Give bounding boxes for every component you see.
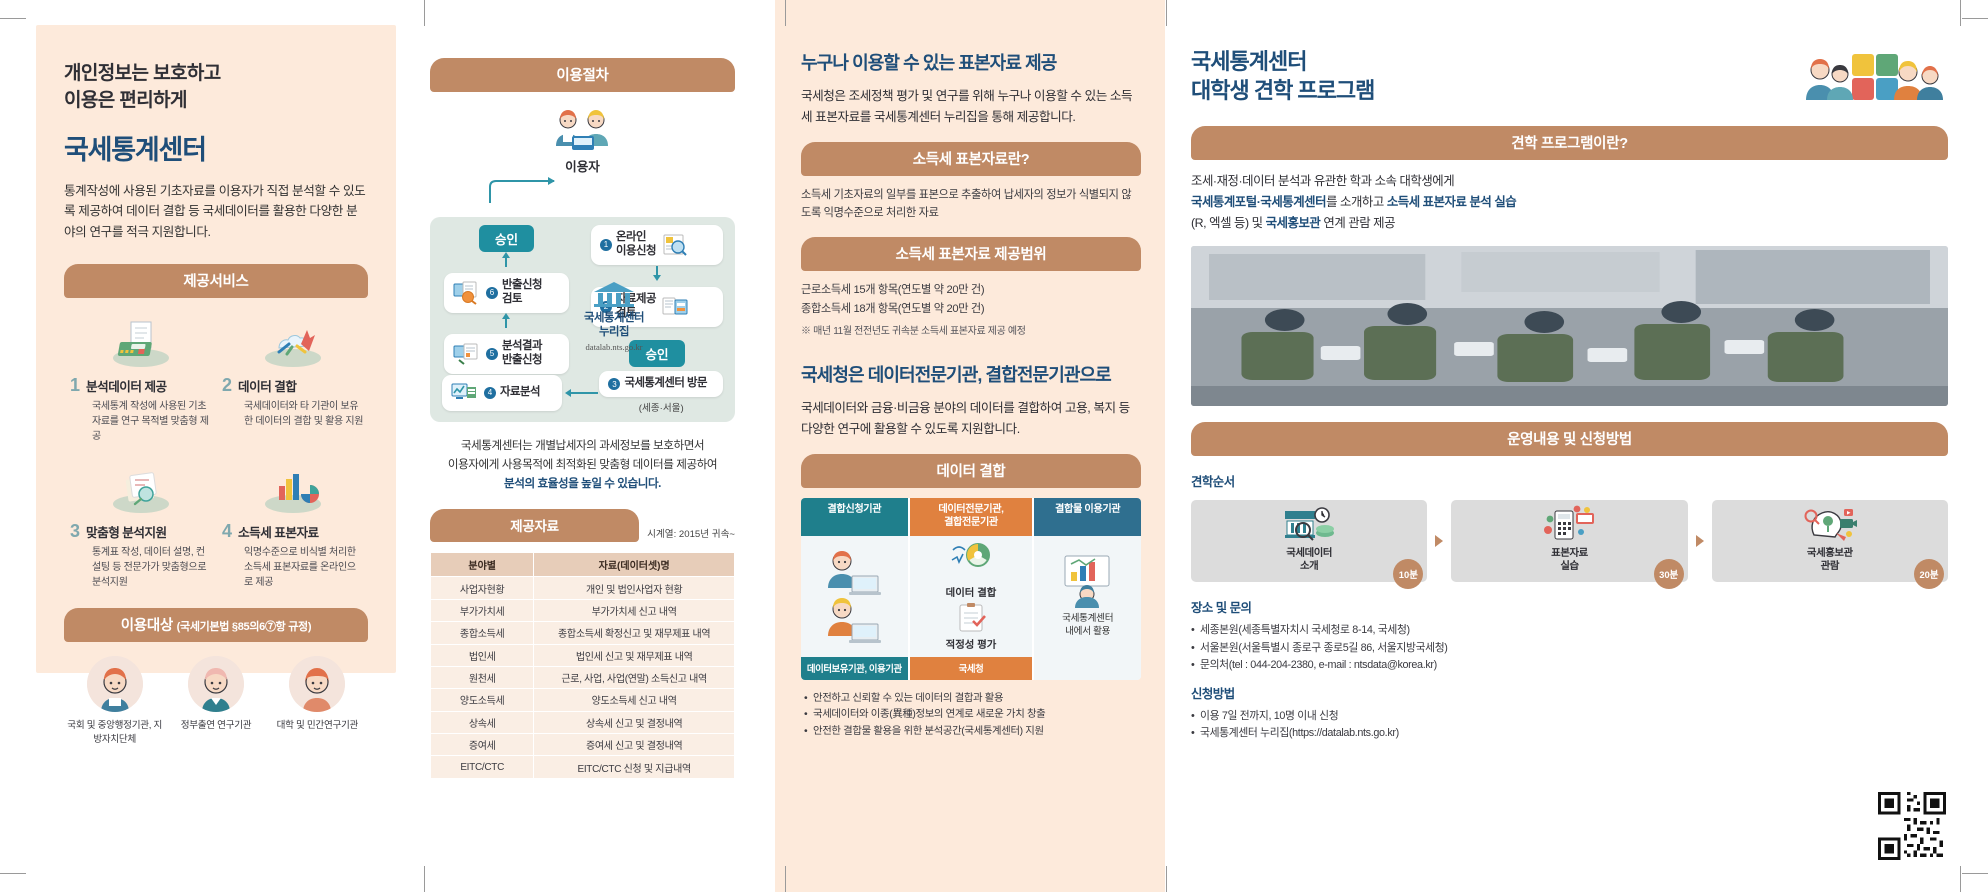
merge-footer-2: 국세청 (910, 657, 1033, 680)
cell-field: 법인세 (431, 644, 534, 666)
flow-inner-panel: 승인 6 반출신청 검토 5 (430, 217, 735, 422)
sample-scope-text: 근로소득세 15개 항목(연도별 약 20만 건) 종합소득세 18개 항목(연… (801, 281, 1141, 339)
crop-mark (0, 873, 26, 874)
merge-bar: 데이터 결합 (801, 454, 1141, 488)
user-target: 대학 및 민간연구기관 (267, 656, 368, 747)
process-note-line-3: 분석의 효율성을 높일 수 있습니다. (504, 477, 661, 490)
flow-arrow-down-1 (591, 265, 723, 282)
panel-overview: 개인정보는 보호하고 이용은 편리하게 국세통계센터 통계작성에 사용된 기초자… (0, 0, 420, 892)
person-avatar-2 (188, 656, 244, 712)
hub-url: datalab.nts.go.kr (578, 342, 650, 352)
program-operation-bar: 운영내용 및 신청방법 (1191, 422, 1948, 456)
sample-scope-bar: 소득세 표본자료 제공범위 (801, 237, 1141, 271)
students-puzzle-icon (1798, 48, 1948, 110)
cell-dataset: 부가가치세 신고 내역 (534, 599, 735, 621)
flow-step-3: 3 국세통계센터 방문 (599, 371, 723, 397)
headline-line-1: 개인정보는 보호하고 (64, 63, 221, 84)
flow-arrow-left (562, 387, 600, 399)
bar-pie-chart-icon (222, 456, 364, 516)
merge-right-label: 국세통계센터 내에서 활용 (1062, 613, 1113, 639)
service-number: 4 (222, 522, 232, 540)
person-avatar-3 (289, 656, 345, 712)
merge-diagram-headers: 결합신청기관 데이터전문기관, 결합전문기관 결합물 이용기관 (801, 498, 1141, 536)
table-col-field: 분야별 (431, 553, 534, 577)
flow-step-6-label: 반출신청 검토 (502, 279, 542, 307)
table-row: 사업자현황개인 및 법인사업자 현황 (431, 577, 735, 599)
data-table-meta: 시계열: 2015년 귀속~ (647, 526, 735, 542)
scope-note: ※ 매년 11월 전전년도 귀속분 소득세 표본자료 제공 예정 (801, 324, 1141, 340)
flow-user-caption: 이용자 (430, 156, 735, 175)
cell-field: 증여세 (431, 734, 534, 756)
apply-list: 이용 7일 전까지, 10명 이내 신청 국세통계센터 누리집(https://… (1191, 708, 1948, 743)
step-badge-3: 3 (608, 378, 620, 390)
merge-diagram-footers: 데이터보유기관, 이용기관 국세청 (801, 657, 1141, 680)
crop-mark (424, 866, 425, 892)
crop-mark (785, 0, 786, 26)
crop-mark (424, 0, 425, 26)
crop-mark (1960, 866, 1961, 892)
user-target-label: 국회 및 중앙행정기관, 지방자치단체 (64, 719, 165, 747)
center-building-icon (591, 281, 637, 307)
chevron-right-icon (1696, 535, 1704, 547)
program-intro-bold-2: 소득세 표본자료 분석 실습 (1387, 195, 1516, 209)
flow-step-4-label: 자료분석 (500, 386, 540, 400)
two-people-icon (430, 106, 735, 152)
flow-step-5: 5 분석결과 반출신청 (444, 334, 569, 374)
cell-field: 상속세 (431, 711, 534, 733)
service-title: 분석데이터 제공 (86, 376, 167, 395)
cell-dataset: 법인세 신고 및 재무제표 내역 (534, 644, 735, 666)
users-bar-title: 이용대상 (121, 618, 173, 634)
merge-cell-users: 국세통계센터 내에서 활용 (1034, 536, 1141, 657)
calculator-document-icon (70, 310, 212, 370)
cell-field: 부가가치세 (431, 599, 534, 621)
visit-step-3-minutes: 20분 (1914, 559, 1944, 589)
program-what-bar: 견학 프로그램이란? (1191, 126, 1948, 160)
merge-gear-icon (948, 542, 994, 580)
panel1-headline: 개인정보는 보호하고 이용은 편리하게 (64, 61, 368, 115)
service-desc: 국세통계 작성에 사용된 기초자료를 연구 목적별 맞춤형 제공 (92, 399, 212, 444)
person-avatar-1 (87, 656, 143, 712)
table-col-dataset: 자료(데이터셋)명 (534, 553, 735, 577)
cell-dataset: 양도소득세 신고 내역 (534, 689, 735, 711)
clipboard-magnifier-icon (70, 456, 212, 516)
program-intro-line-1: 조세·재정·데이터 분석과 유관한 학과 소속 대학생에게 (1191, 174, 1454, 188)
cell-field: 양도소득세 (431, 689, 534, 711)
data-table-header-row: 제공자료 시계열: 2015년 귀속~ (430, 509, 735, 542)
flow-arrow-up-left (430, 175, 735, 205)
export-review-icon (453, 281, 480, 305)
cell-dataset: 종합소득세 확정신고 및 재무제표 내역 (534, 622, 735, 644)
program-intro-mid-2: (R, 엑셀 등) 및 (1191, 216, 1266, 230)
cell-dataset: 증여세 신고 및 결정내역 (534, 734, 735, 756)
apply-item: 이용 7일 전까지, 10명 이내 신청 (1191, 708, 1948, 725)
visit-step-1-minutes: 10분 (1393, 559, 1423, 589)
qr-code[interactable] (1874, 788, 1948, 862)
sample-title: 누구나 이용할 수 있는 표본자료 제공 (801, 52, 1141, 75)
evaluation-checklist-icon (948, 603, 994, 633)
merge-col-1-header: 결합신청기관 (801, 498, 908, 536)
cell-field: 원천세 (431, 666, 534, 688)
table-row: 부가가치세부가가치세 신고 내역 (431, 599, 735, 621)
visit-step-2-minutes: 30분 (1654, 559, 1684, 589)
apply-label: 신청방법 (1191, 684, 1948, 702)
service-item: 2 데이터 결합 국세데이터와 타 기관이 보유한 데이터의 결합 및 활용 지… (216, 310, 368, 456)
process-note: 국세통계센터는 개별납세자의 과세정보를 보호하면서 이용자에게 사용목적에 최… (430, 436, 735, 493)
merge-bullet: 국세데이터와 이종(異種)정보의 연계로 새로운 가치 창출 (804, 707, 1141, 724)
flow-user-node: 이용자 (430, 106, 735, 175)
calculator-practice-icon (1541, 505, 1597, 543)
place-item: 세종본원(세종특별자치시 국세청로 8-14, 국세청) (1191, 622, 1948, 639)
flow-approve-top: 승인 (479, 225, 534, 252)
table-header-row: 분야별 자료(데이터셋)명 (431, 553, 735, 577)
cell-field: 사업자현황 (431, 577, 534, 599)
cell-dataset: 상속세 신고 및 결정내역 (534, 711, 735, 733)
crop-mark (1166, 866, 1167, 892)
crop-mark (1960, 0, 1961, 26)
flow-arrow-up-2 (444, 313, 569, 329)
flow-step-1: 1 온라인 이용신청 (591, 225, 723, 265)
merge-center-label-2: 적정성 평가 (946, 636, 997, 651)
step-badge-1: 1 (600, 239, 612, 251)
program-intro-mid-1: 를 소개하고 (1326, 195, 1387, 209)
user-target-label: 대학 및 민간연구기관 (267, 719, 368, 733)
cell-field: 종합소득세 (431, 622, 534, 644)
sample-body: 국세청은 조세정책 평가 및 연구를 위해 누구나 이용할 수 있는 소득세 표… (801, 86, 1141, 127)
crop-mark (785, 866, 786, 892)
apply-item: 국세통계센터 누리집(https://datalab.nts.go.kr) (1191, 725, 1948, 742)
table-row: 원천세근로, 사업, 사업(연말) 소득신고 내역 (431, 666, 735, 688)
program-title: 국세통계센터 대학생 견학 프로그램 (1191, 48, 1374, 105)
cell-dataset: EITC/CTC 신청 및 지급내역 (534, 756, 735, 778)
visit-step-2-label: 표본자료 실습 (1551, 547, 1588, 574)
sample-definition-text: 소득세 기초자료의 일부를 표본으로 추출하여 납세자의 정보가 식별되지 않도… (801, 186, 1141, 222)
provided-data-table: 분야별 자료(데이터셋)명 사업자현황개인 및 법인사업자 현황 부가가치세부가… (430, 552, 735, 778)
process-bar: 이용절차 (430, 58, 735, 92)
table-row: 증여세증여세 신고 및 결정내역 (431, 734, 735, 756)
result-chart-user-icon (1053, 554, 1123, 608)
program-intro-bold-1: 국세통계포털·국세통계센터 (1191, 195, 1326, 209)
user-target: 정부출연 연구기관 (165, 656, 266, 747)
online-apply-icon (662, 233, 689, 257)
visit-step-3-label: 국세홍보관 관람 (1807, 547, 1853, 574)
exhibition-idea-icon (1802, 505, 1858, 543)
process-flow-diagram: 이용자 승인 6 반출신청 검토 (430, 106, 735, 422)
program-title-line-2: 대학생 견학 프로그램 (1191, 78, 1374, 103)
table-row: 종합소득세종합소득세 확정신고 및 재무제표 내역 (431, 622, 735, 644)
merge-col-2-header: 데이터전문기관, 결합전문기관 (910, 498, 1033, 536)
process-note-line-2: 이용자에게 사용목적에 최적화된 맞춤형 데이터를 제공하여 (448, 458, 717, 471)
service-number: 3 (70, 522, 80, 540)
crop-mark (0, 18, 26, 19)
service-desc: 국세데이터와 타 기관이 보유한 데이터의 결합 및 활용 지원 (244, 399, 364, 429)
flow-step-5-label: 분석결과 반출신청 (502, 340, 542, 368)
flow-step-3-sublabel: (세종·서울) (599, 400, 723, 414)
panel-sample-data: 누구나 이용할 수 있는 표본자료 제공 국세청은 조세정책 평가 및 연구를 … (775, 0, 1165, 892)
data-table-bar: 제공자료 (430, 509, 639, 542)
place-label: 장소 및 문의 (1191, 598, 1948, 616)
step-badge-4: 4 (484, 387, 496, 399)
visit-step-3: 국세홍보관 관람 20분 (1712, 500, 1948, 582)
place-item: 서울본원(서울특별시 종로구 종로5길 86, 서울지방국세청) (1191, 640, 1948, 657)
merge-footer-1: 데이터보유기관, 이용기관 (801, 657, 908, 680)
flow-step-4: 4 자료분석 (442, 375, 562, 411)
flow-arrow-up-1 (444, 252, 569, 268)
service-title: 데이터 결합 (238, 376, 296, 395)
scope-item-2: 종합소득세 18개 항목(연도별 약 20만 건) (801, 303, 984, 315)
merge-bullets: 안전하고 신뢰할 수 있는 데이터의 결합과 활용 국세데이터와 이종(異種)정… (801, 691, 1141, 742)
cell-dataset: 개인 및 법인사업자 현황 (534, 577, 735, 599)
merge-center-label: 데이터 결합 (946, 584, 997, 599)
crop-mark (1962, 18, 1988, 19)
service-title: 소득세 표본자료 (238, 522, 319, 541)
crop-mark (1962, 873, 1988, 874)
visit-step-2: 표본자료 실습 30분 (1451, 500, 1687, 582)
merge-cell-center: 데이터 결합 적정성 평가 (910, 536, 1033, 657)
review-doc-icon (662, 295, 689, 319)
step-badge-5: 5 (486, 348, 498, 360)
users-bar-sub: (국세기본법 §85의6⑦항 규정) (177, 621, 312, 633)
merge-body: 국세데이터와 금융·비금융 분야의 데이터를 결합하여 고용, 복지 등 다양한… (801, 398, 1141, 439)
visit-order-label: 견학순서 (1191, 472, 1948, 490)
service-desc: 통계표 작성, 데이터 설명, 컨설팅 등 전문가가 맞춤형으로 분석지원 (92, 545, 212, 590)
visit-step-1: 국세데이터 소개 10분 (1191, 500, 1427, 582)
program-title-line-1: 국세통계센터 (1191, 49, 1306, 74)
export-request-icon (453, 342, 480, 366)
cell-dataset: 근로, 사업, 사업(연말) 소득신고 내역 (534, 666, 735, 688)
user-target-label: 정부출연 연구기관 (165, 719, 266, 733)
brochure-sheet: 개인정보는 보호하고 이용은 편리하게 국세통계센터 통계작성에 사용된 기초자… (0, 0, 1988, 892)
merge-diagram-body: 데이터 결합 적정성 평가 국세통계센터 내에서 활용 (801, 536, 1141, 657)
cell-field: EITC/CTC (431, 756, 534, 778)
headline-line-2: 이용은 편리하게 (64, 90, 187, 111)
hub-name: 국세통계센터 누리집 (578, 312, 650, 339)
brand-title: 국세통계센터 (64, 128, 368, 167)
services-grid: 1 분석데이터 제공 국세통계 작성에 사용된 기초자료를 연구 목적별 맞춤형… (64, 310, 368, 602)
merge-diagram: 결합신청기관 데이터전문기관, 결합전문기관 결합물 이용기관 데이터 결합 적… (801, 498, 1141, 680)
merge-col-3-header: 결합물 이용기관 (1034, 498, 1141, 536)
place-list: 세종본원(세종특별자치시 국세청로 8-14, 국세청) 서울본원(서울특별시 … (1191, 622, 1948, 674)
program-intro-end: 연계 관람 제공 (1320, 216, 1395, 230)
merge-bullet: 안전하고 신뢰할 수 있는 데이터의 결합과 활용 (804, 691, 1141, 708)
data-merge-icon (222, 310, 364, 370)
visit-step-1-label: 국세데이터 소개 (1286, 547, 1332, 574)
panel-student-program: 국세통계센터 대학생 견학 프로그램 견학 프로그램이란? 조세·재정·데이터 … (1165, 0, 1988, 892)
merge-title: 국세청은 데이터전문기관, 결합전문기관으로 (801, 364, 1141, 387)
service-number: 2 (222, 376, 232, 394)
table-row: 양도소득세양도소득세 신고 내역 (431, 689, 735, 711)
visit-steps: 국세데이터 소개 10분 표본자료 실습 30분 국세홍보관 관람 20분 (1191, 500, 1948, 582)
flow-hub: 국세통계센터 누리집 datalab.nts.go.kr (578, 281, 650, 352)
merge-footer-3 (1034, 657, 1141, 680)
flow-step-1-label: 온라인 이용신청 (616, 231, 656, 259)
flow-step-3-label: 국세통계센터 방문 (624, 377, 707, 391)
program-intro: 조세·재정·데이터 분석과 유관한 학과 소속 대학생에게 국세통계포털·국세통… (1191, 171, 1948, 233)
service-item: 3 맞춤형 분석지원 통계표 작성, 데이터 설명, 컨설팅 등 전문가가 맞춤… (64, 456, 216, 602)
two-users-laptop-icon (818, 548, 890, 644)
users-grid: 국회 및 중앙행정기관, 지방자치단체 정부출연 연구기관 대학 및 민간연구기… (64, 656, 368, 747)
step-badge-6: 6 (486, 287, 498, 299)
building-data-icon (1281, 505, 1337, 543)
analysis-monitor-icon (451, 381, 478, 405)
place-item: 문의처(tel : 044-204-2380, e-mail : ntsdata… (1191, 657, 1948, 674)
process-note-line-1: 국세통계센터는 개별납세자의 과세정보를 보호하면서 (461, 439, 704, 452)
service-item: 4 소득세 표본자료 익명수준으로 비식별 처리한 소득세 표본자료를 온라인으… (216, 456, 368, 602)
panel1-lede: 통계작성에 사용된 기초자료를 이용자가 직접 분석할 수 있도록 제공하여 데… (64, 181, 368, 242)
service-title: 맞춤형 분석지원 (86, 522, 167, 541)
panel-process: 이용절차 이용자 승인 (420, 0, 775, 892)
merge-cell-applicants (801, 536, 908, 657)
program-intro-bold-3: 국세홍보관 (1266, 216, 1321, 230)
services-bar: 제공서비스 (64, 264, 368, 298)
classroom-photo (1191, 246, 1948, 406)
panel1-card: 개인정보는 보호하고 이용은 편리하게 국세통계센터 통계작성에 사용된 기초자… (36, 25, 396, 673)
users-bar: 이용대상 (국세기본법 §85의6⑦항 규정) (64, 608, 368, 642)
merge-bullet: 안전한 결합물 활용을 위한 분석공간(국세통계센터) 지원 (804, 724, 1141, 741)
crop-mark (1166, 0, 1167, 26)
table-row: EITC/CTCEITC/CTC 신청 및 지급내역 (431, 756, 735, 778)
service-number: 1 (70, 376, 80, 394)
table-row: 상속세상속세 신고 및 결정내역 (431, 711, 735, 733)
scope-item-1: 근로소득세 15개 항목(연도별 약 20만 건) (801, 284, 984, 296)
flow-step-6: 6 반출신청 검토 (444, 273, 569, 313)
service-desc: 익명수준으로 비식별 처리한 소득세 표본자료를 온라인으로 제공 (244, 545, 364, 590)
chevron-right-icon (1435, 535, 1443, 547)
sample-definition-bar: 소득세 표본자료란? (801, 142, 1141, 176)
table-row: 법인세법인세 신고 및 재무제표 내역 (431, 644, 735, 666)
user-target: 국회 및 중앙행정기관, 지방자치단체 (64, 656, 165, 747)
service-item: 1 분석데이터 제공 국세통계 작성에 사용된 기초자료를 연구 목적별 맞춤형… (64, 310, 216, 456)
